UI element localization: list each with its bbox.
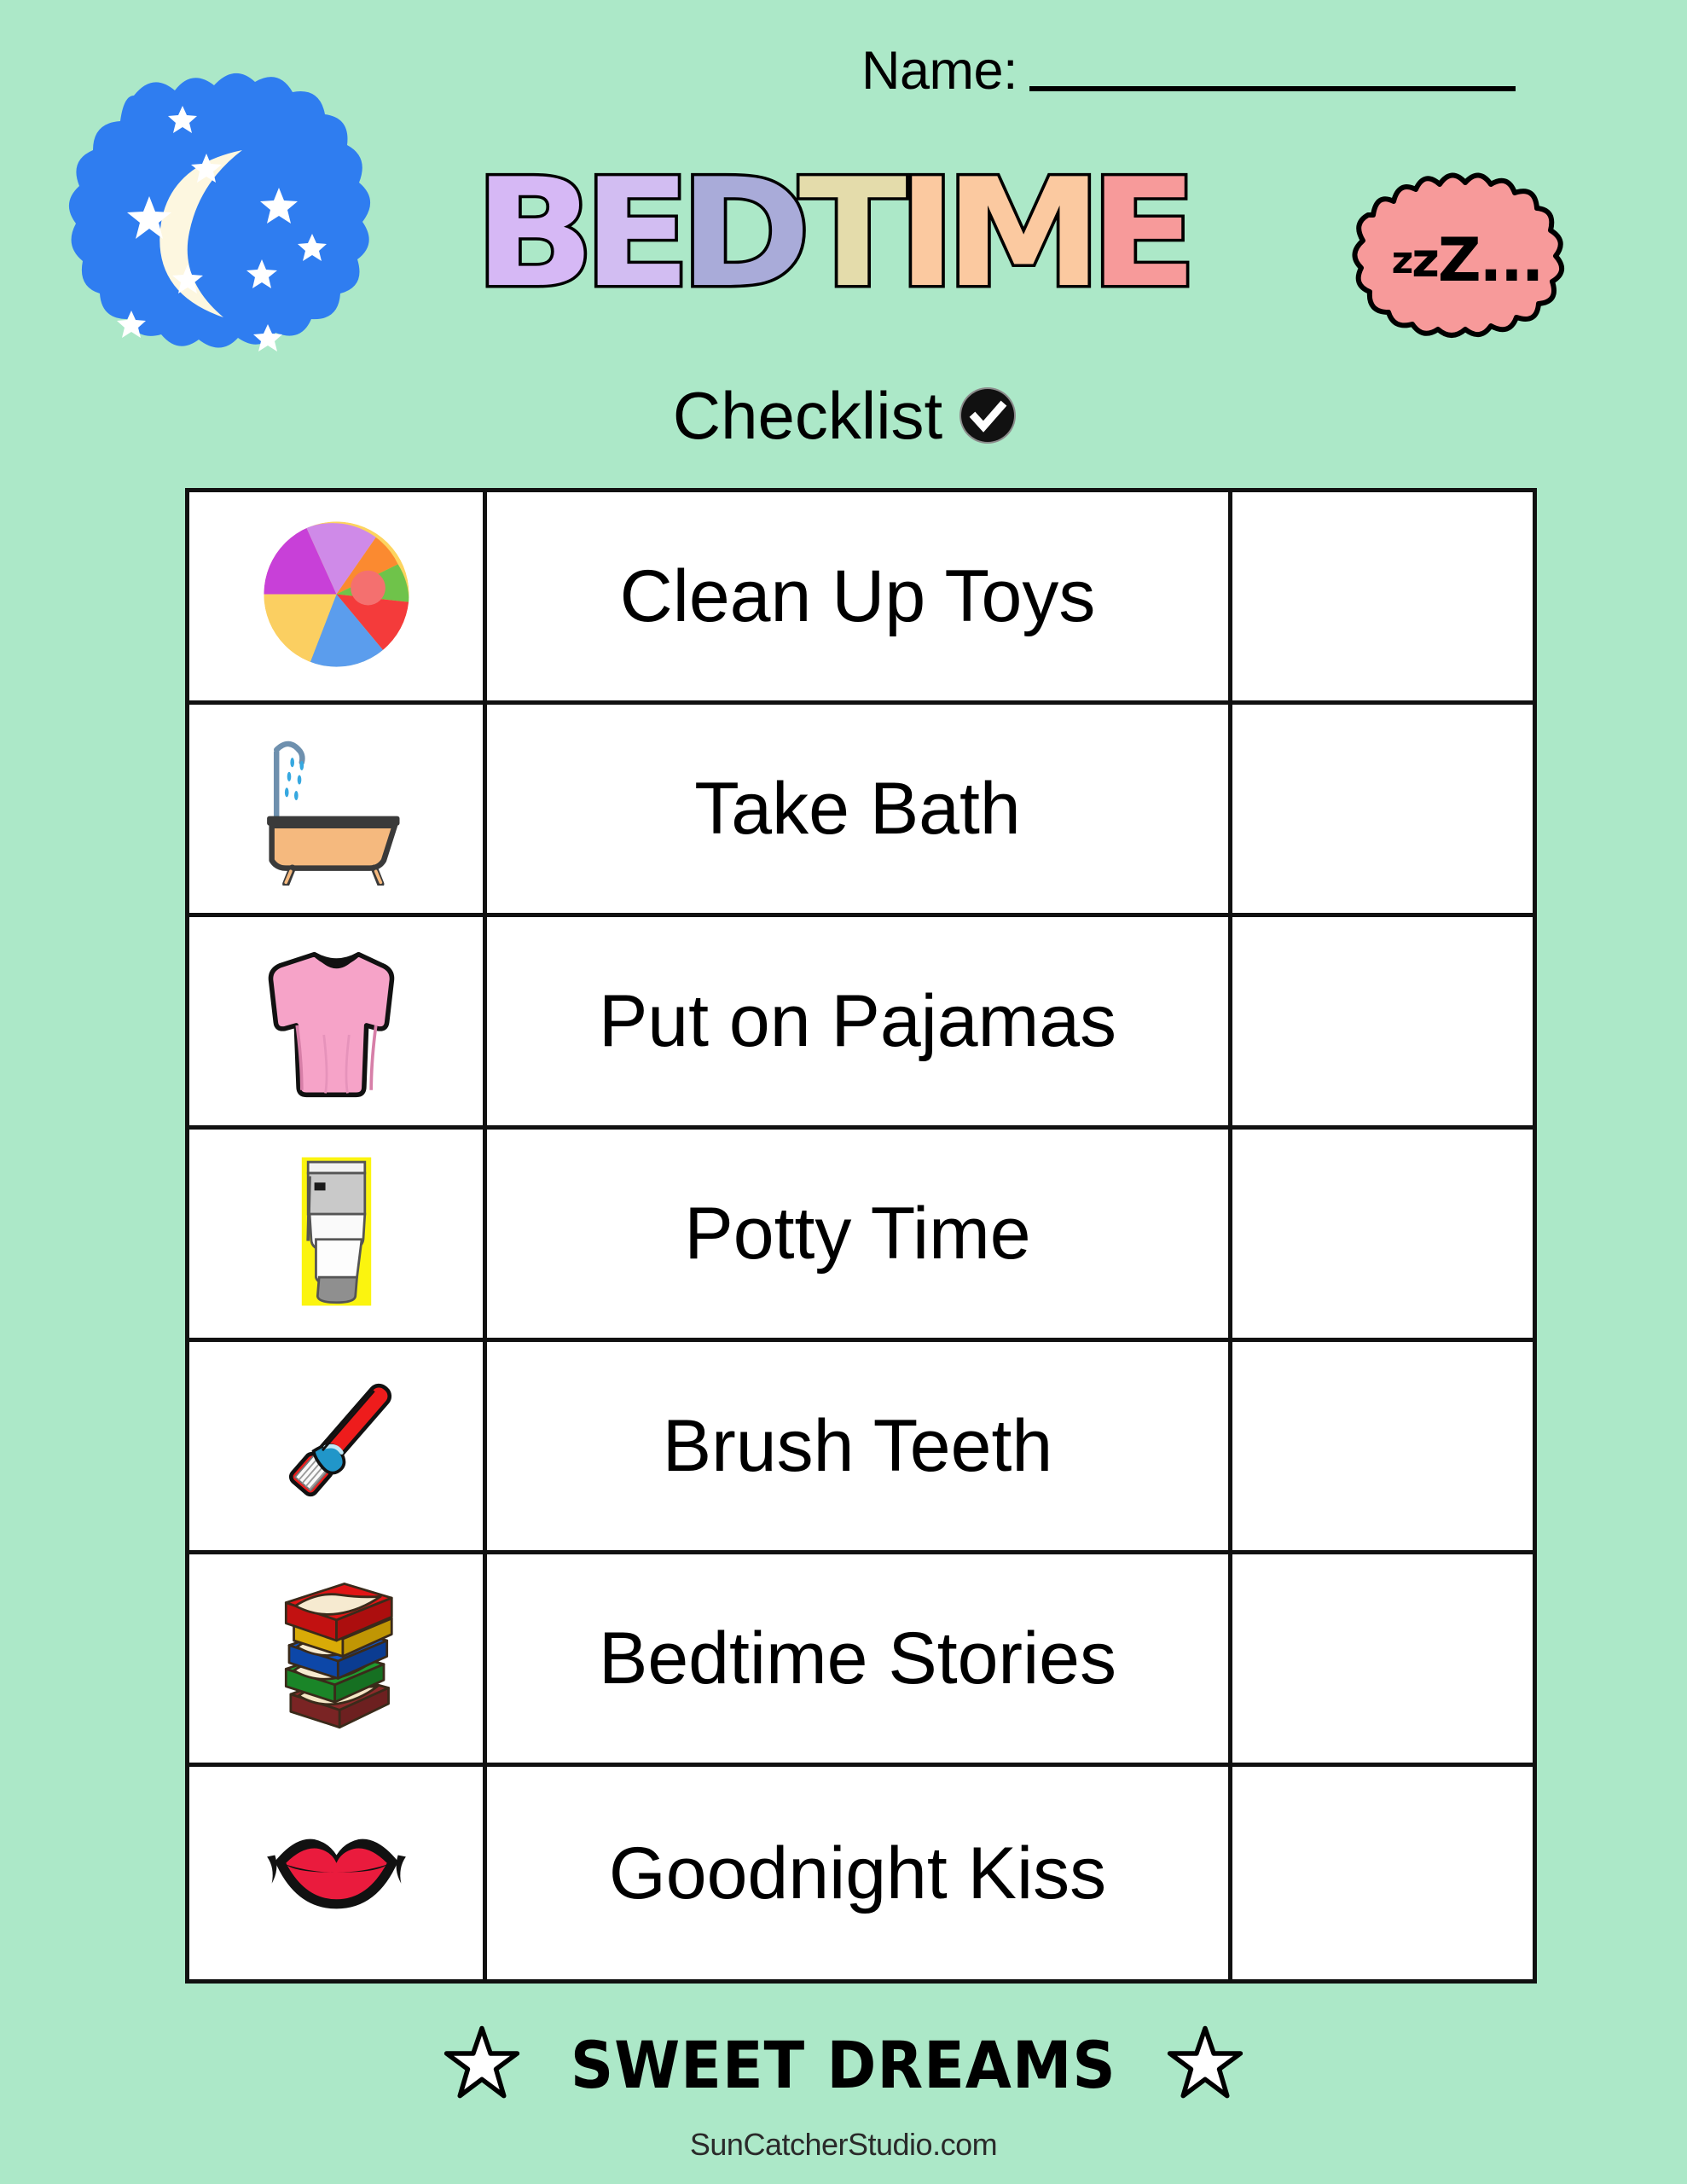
task-label: Brush Teeth	[663, 1409, 1052, 1483]
check-circle-icon	[961, 389, 1014, 442]
task-icon-cell	[189, 492, 487, 700]
page-subtitle: Checklist	[673, 382, 942, 449]
beach-ball-icon	[258, 515, 415, 677]
task-label: Potty Time	[684, 1197, 1030, 1270]
table-row: Potty Time	[189, 1130, 1533, 1342]
title-letter-e-1: E	[583, 164, 686, 305]
name-field[interactable]: Name:	[861, 44, 1516, 98]
task-checkbox-cell[interactable]	[1232, 492, 1533, 700]
site-credit: SunCatcherStudio.com	[0, 2127, 1687, 2163]
title-letter-b-0: B	[474, 164, 589, 305]
title-letter-t-3: T	[799, 164, 901, 305]
task-label: Bedtime Stories	[599, 1622, 1116, 1695]
lips-kiss-icon	[258, 1823, 415, 1923]
task-icon-cell	[189, 1767, 487, 1979]
sweet-dreams-row: SWEET DREAMS	[0, 2024, 1687, 2106]
task-label-cell: Goodnight Kiss	[487, 1767, 1232, 1979]
task-icon-cell	[189, 705, 487, 913]
task-label: Clean Up Toys	[620, 560, 1096, 633]
task-label: Take Bath	[694, 772, 1020, 845]
title-letter-i-4: I	[897, 164, 951, 305]
title-letter-e-6: E	[1089, 164, 1191, 305]
page-title: BEDTIME	[478, 164, 1189, 305]
task-checkbox-cell[interactable]	[1232, 705, 1533, 913]
task-label: Goodnight Kiss	[609, 1837, 1106, 1910]
subtitle-row: Checklist	[0, 382, 1687, 449]
zzz-cloud-icon: zzZ...	[1339, 171, 1595, 350]
task-checkbox-cell[interactable]	[1232, 1130, 1533, 1338]
toilet-icon	[258, 1153, 415, 1315]
checklist-table: Clean Up Toys Take Bath Put on Pajamas	[185, 488, 1537, 1984]
page-header: Name: BEDTIME zzZ... Checklist	[0, 0, 1687, 488]
moon-stars-cloud-icon	[53, 61, 377, 369]
zzz-part-2: z	[1412, 233, 1438, 288]
table-row: Put on Pajamas	[189, 917, 1533, 1130]
task-label-cell: Bedtime Stories	[487, 1554, 1232, 1763]
task-label-cell: Take Bath	[487, 705, 1232, 913]
name-input-line[interactable]	[1029, 86, 1516, 91]
title-letter-d-2: D	[680, 164, 806, 305]
task-icon-cell	[189, 1342, 487, 1550]
task-checkbox-cell[interactable]	[1232, 1554, 1533, 1763]
star-icon	[1166, 2024, 1244, 2106]
pink-pajama-shirt-icon	[258, 940, 415, 1102]
title-letter-m-5: M	[945, 164, 1097, 305]
table-row: Take Bath	[189, 705, 1533, 917]
task-icon-cell	[189, 917, 487, 1125]
task-checkbox-cell[interactable]	[1232, 1342, 1533, 1550]
zzz-part-3: Z	[1438, 225, 1480, 295]
task-checkbox-cell[interactable]	[1232, 1767, 1533, 1979]
task-icon-cell	[189, 1554, 487, 1763]
name-label: Name:	[861, 44, 1017, 98]
table-row: Bedtime Stories	[189, 1554, 1533, 1767]
task-label-cell: Put on Pajamas	[487, 917, 1232, 1125]
table-row: Goodnight Kiss	[189, 1767, 1533, 1979]
table-row: Brush Teeth	[189, 1342, 1533, 1554]
page-footer: SWEET DREAMS SunCatcherStudio.com	[0, 2024, 1687, 2163]
task-label-cell: Potty Time	[487, 1130, 1232, 1338]
task-label-cell: Clean Up Toys	[487, 492, 1232, 700]
table-row: Clean Up Toys	[189, 492, 1533, 705]
zzz-label: zzZ...	[1339, 171, 1595, 350]
zzz-part-4: ...	[1480, 225, 1543, 295]
zzz-part-1: z	[1392, 239, 1412, 282]
stack-of-books-icon	[258, 1577, 415, 1740]
star-icon	[443, 2024, 521, 2106]
task-label: Put on Pajamas	[599, 985, 1116, 1058]
task-label-cell: Brush Teeth	[487, 1342, 1232, 1550]
sweet-dreams-label: SWEET DREAMS	[571, 2033, 1116, 2098]
bathtub-shower-icon	[258, 728, 415, 890]
task-checkbox-cell[interactable]	[1232, 917, 1533, 1125]
toothbrush-icon	[258, 1365, 415, 1527]
task-icon-cell	[189, 1130, 487, 1338]
